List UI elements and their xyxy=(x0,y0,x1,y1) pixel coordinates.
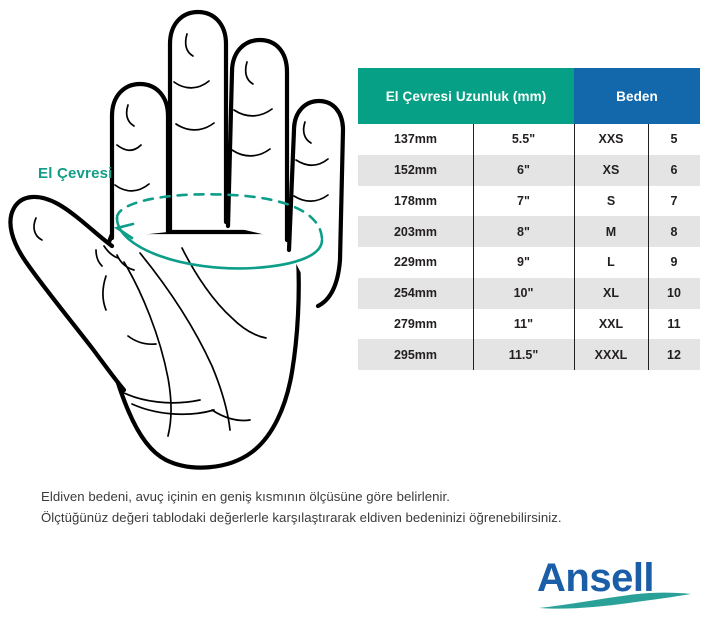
cell-millimeters: 229mm xyxy=(358,247,473,278)
column-divider xyxy=(473,124,474,370)
cell-size-letter: M xyxy=(574,216,648,247)
cell-size-letter: S xyxy=(574,186,648,217)
cell-size-number: 7 xyxy=(648,186,700,217)
caption-line-1: Eldiven bedeni, avuç içinin en geniş kıs… xyxy=(41,486,671,507)
cell-millimeters: 203mm xyxy=(358,216,473,247)
cell-inches: 9" xyxy=(473,247,574,278)
cell-millimeters: 178mm xyxy=(358,186,473,217)
column-divider xyxy=(648,124,649,370)
cell-millimeters: 254mm xyxy=(358,278,473,309)
cell-inches: 5.5" xyxy=(473,124,574,155)
header-size: Beden xyxy=(574,68,700,124)
caption-line-2: Ölçtüğünüz değeri tablodaki değerlerle k… xyxy=(41,507,671,528)
cell-size-letter: XL xyxy=(574,278,648,309)
instructions-caption: Eldiven bedeni, avuç içinin en geniş kıs… xyxy=(41,486,671,528)
cell-size-number: 9 xyxy=(648,247,700,278)
cell-millimeters: 137mm xyxy=(358,124,473,155)
cell-millimeters: 295mm xyxy=(358,339,473,370)
cell-size-letter: XXXL xyxy=(574,339,648,370)
cell-size-number: 12 xyxy=(648,339,700,370)
table-header-row: El Çevresi Uzunluk (mm) Beden xyxy=(358,68,700,124)
cell-size-letter: XXS xyxy=(574,124,648,155)
cell-size-number: 10 xyxy=(648,278,700,309)
cell-inches: 10" xyxy=(473,278,574,309)
cell-size-letter: XS xyxy=(574,155,648,186)
hand-circumference-label: El Çevresi xyxy=(38,165,113,182)
cell-inches: 11.5" xyxy=(473,339,574,370)
ansell-logo: Ansell xyxy=(537,556,693,610)
ansell-swoosh-icon xyxy=(537,592,693,610)
cell-millimeters: 152mm xyxy=(358,155,473,186)
cell-inches: 7" xyxy=(473,186,574,217)
cell-size-number: 5 xyxy=(648,124,700,155)
cell-size-number: 6 xyxy=(648,155,700,186)
cell-inches: 6" xyxy=(473,155,574,186)
finger-index xyxy=(112,84,168,238)
column-divider xyxy=(574,124,575,370)
glove-size-table: El Çevresi Uzunluk (mm) Beden 137mm 5.5"… xyxy=(358,68,700,370)
cell-inches: 11" xyxy=(473,309,574,340)
cell-size-letter: L xyxy=(574,247,648,278)
finger-middle xyxy=(170,12,226,230)
cell-inches: 8" xyxy=(473,216,574,247)
cell-millimeters: 279mm xyxy=(358,309,473,340)
thumb xyxy=(10,197,124,390)
finger-ring xyxy=(228,40,287,240)
cell-size-number: 11 xyxy=(648,309,700,340)
cell-size-number: 8 xyxy=(648,216,700,247)
header-hand-circumference: El Çevresi Uzunluk (mm) xyxy=(358,68,574,124)
hand-illustration xyxy=(0,0,350,480)
cell-size-letter: XXL xyxy=(574,309,648,340)
